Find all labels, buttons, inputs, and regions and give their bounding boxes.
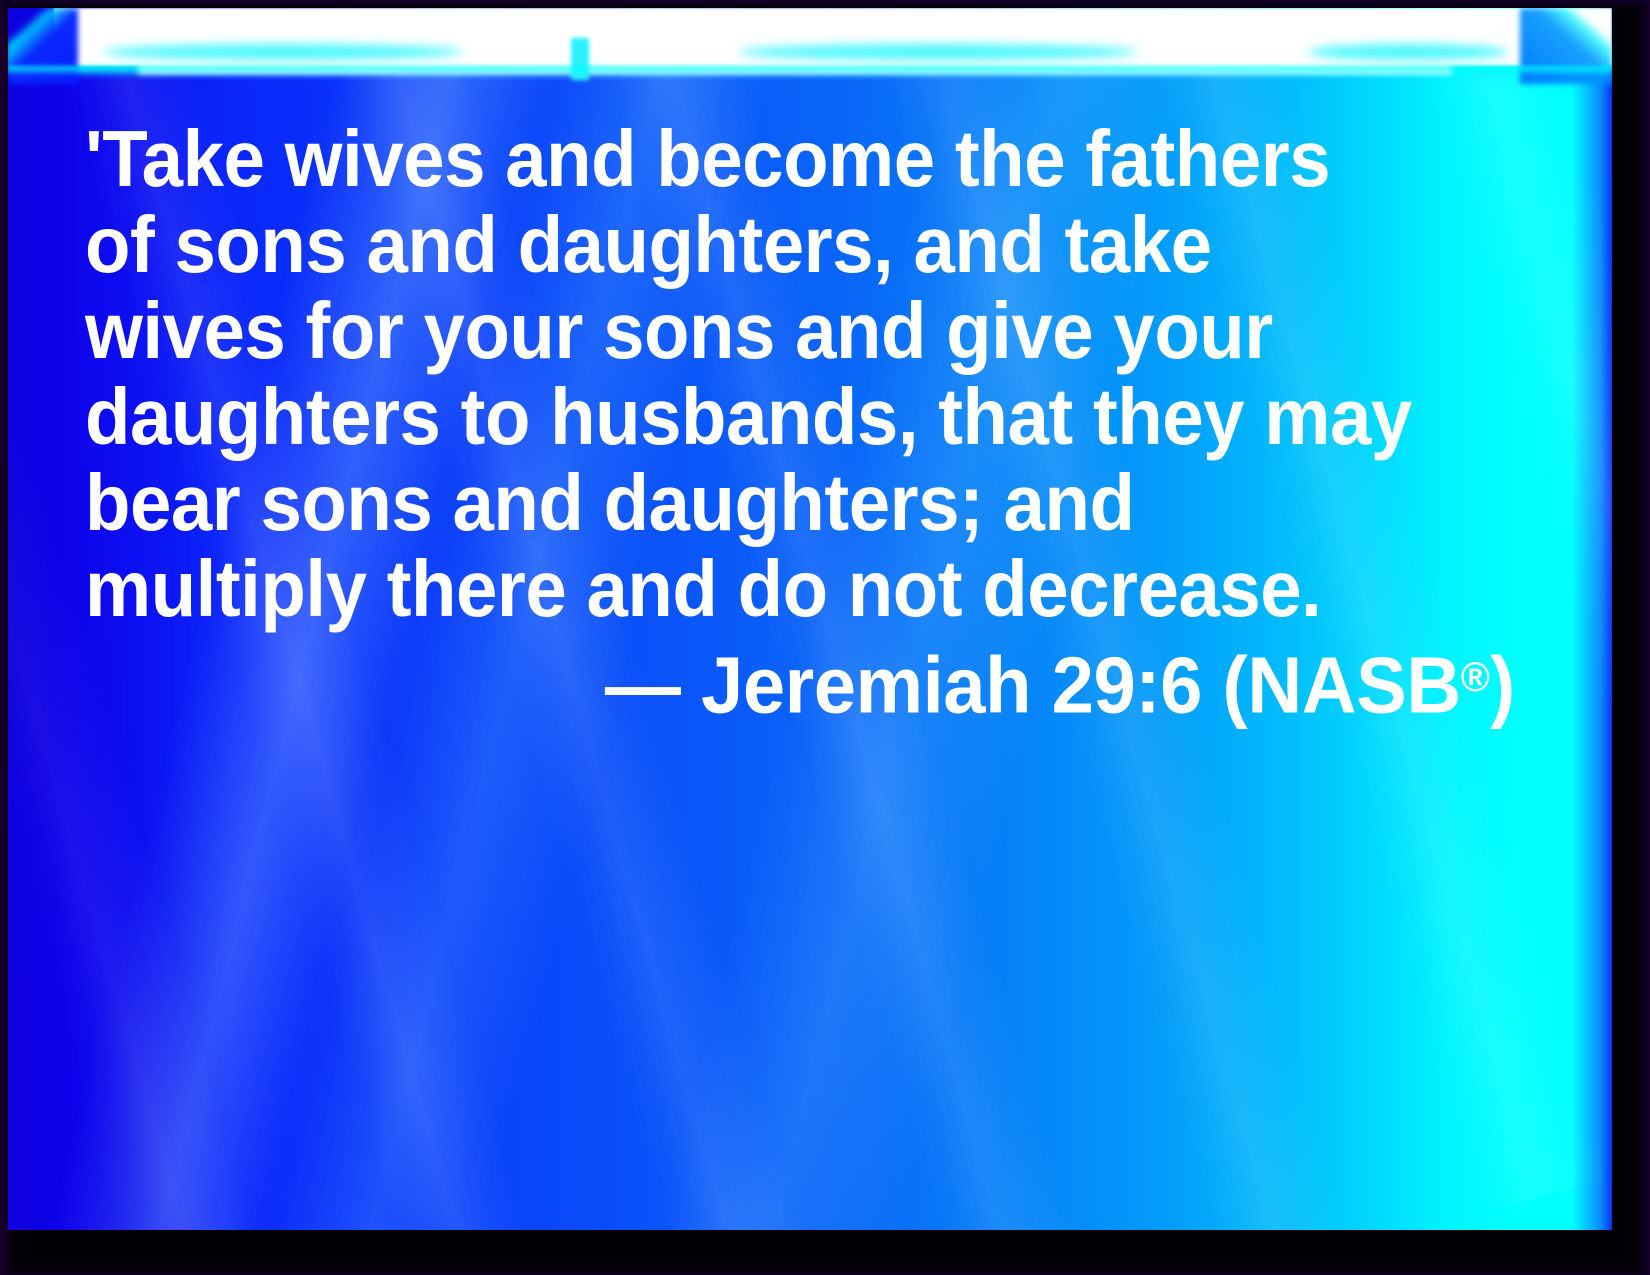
attribution-reference: Jeremiah 29:6 (NASB — [701, 641, 1461, 730]
verse-attribution: — Jeremiah 29:6 (NASB®) — [605, 632, 1515, 731]
slide-canvas: 'Take wives and become the fathers of so… — [8, 8, 1612, 1230]
attribution-closing-paren: ) — [1490, 641, 1515, 730]
slide-frame: 'Take wives and become the fathers of so… — [0, 0, 1650, 1275]
verse-body-text: 'Take wives and become the fathers of so… — [85, 116, 1415, 632]
attribution-em-dash: — — [605, 641, 681, 730]
attribution-row: — Jeremiah 29:6 (NASB®) — [85, 632, 1515, 731]
verse-text-block: 'Take wives and become the fathers of so… — [85, 116, 1515, 632]
attribution-spacer — [681, 641, 702, 730]
registered-trademark-icon: ® — [1461, 653, 1490, 700]
